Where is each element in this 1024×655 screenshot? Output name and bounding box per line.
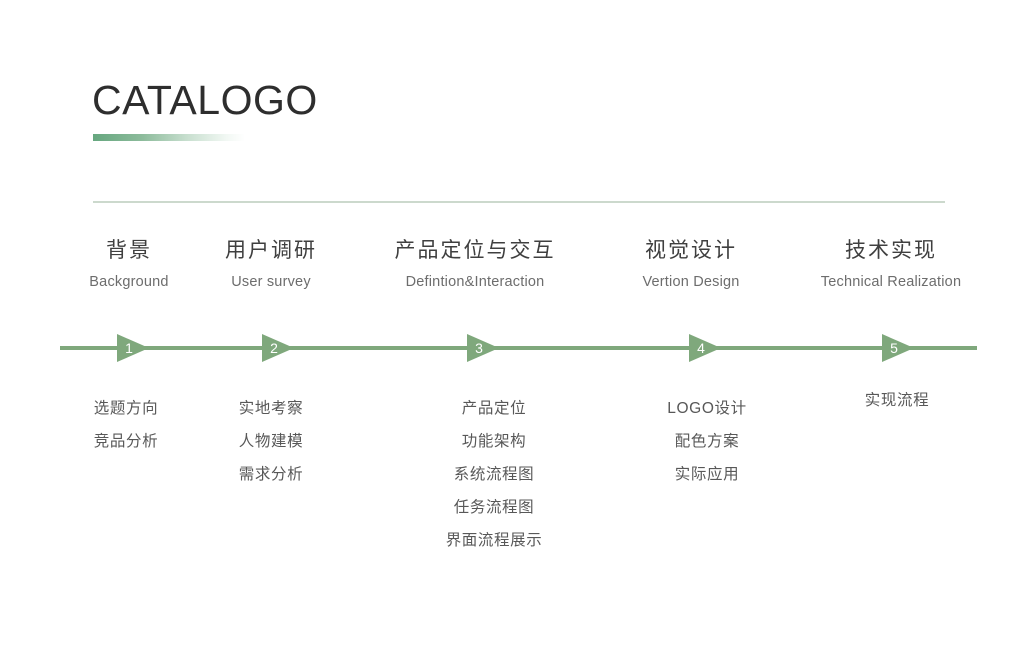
column-title-en-1: Background — [89, 272, 168, 292]
column-title-cn-5: 技术实现 — [821, 236, 961, 266]
column-title-cn-2: 用户调研 — [225, 236, 317, 266]
column-title-cn-3: 产品定位与交互 — [395, 236, 556, 266]
title-underline-accent — [93, 134, 245, 141]
column-title-en-2: User survey — [225, 272, 317, 292]
list-item: 实现流程 — [865, 384, 929, 417]
list-item: 实地考察 — [239, 392, 303, 425]
list-item: 界面流程展示 — [446, 524, 543, 557]
timeline-marker-number-1: 1 — [122, 334, 136, 363]
column-header-2: 用户调研 User survey — [225, 236, 317, 292]
list-item: 系统流程图 — [446, 458, 543, 491]
column-header-5: 技术实现 Technical Realization — [821, 236, 961, 292]
list-item: 实际应用 — [667, 458, 746, 491]
list-item: 竞品分析 — [94, 425, 158, 458]
column-items-5: 实现流程 — [865, 384, 929, 417]
column-title-en-4: Vertion Design — [642, 272, 739, 292]
column-items-3: 产品定位 功能架构 系统流程图 任务流程图 界面流程展示 — [446, 392, 543, 557]
column-title-en-5: Technical Realization — [821, 272, 961, 292]
column-header-1: 背景 Background — [89, 236, 168, 292]
column-title-cn-1: 背景 — [89, 236, 168, 266]
timeline-marker-number-2: 2 — [267, 334, 281, 363]
timeline-marker-1[interactable]: 1 — [117, 334, 149, 363]
timeline-marker-4[interactable]: 4 — [689, 334, 721, 363]
column-items-2: 实地考察 人物建模 需求分析 — [239, 392, 303, 491]
list-item: 选题方向 — [94, 392, 158, 425]
column-title-en-3: Defintion&Interaction — [395, 272, 556, 292]
page-title: CATALOGO — [92, 76, 318, 124]
list-item: 产品定位 — [446, 392, 543, 425]
column-item-lists: 选题方向 竞品分析 实地考察 人物建模 需求分析 产品定位 功能架构 系统流程图… — [0, 392, 1024, 592]
timeline-marker-number-3: 3 — [472, 334, 486, 363]
timeline-axis: 1 2 3 4 5 — [0, 330, 1024, 370]
watermark-text — [62, 24, 132, 40]
column-title-cn-4: 视觉设计 — [642, 236, 739, 266]
list-item: LOGO设计 — [667, 392, 746, 425]
column-items-4: LOGO设计 配色方案 实际应用 — [667, 392, 746, 491]
list-item: 人物建模 — [239, 425, 303, 458]
column-items-1: 选题方向 竞品分析 — [94, 392, 158, 458]
list-item: 配色方案 — [667, 425, 746, 458]
timeline-marker-5[interactable]: 5 — [882, 334, 914, 363]
timeline-marker-2[interactable]: 2 — [262, 334, 294, 363]
timeline-marker-number-4: 4 — [694, 334, 708, 363]
list-item: 需求分析 — [239, 458, 303, 491]
timeline-marker-number-5: 5 — [887, 334, 901, 363]
section-divider — [93, 201, 945, 203]
list-item: 功能架构 — [446, 425, 543, 458]
column-headers: 背景 Background 用户调研 User survey 产品定位与交互 D… — [0, 236, 1024, 306]
column-header-3: 产品定位与交互 Defintion&Interaction — [395, 236, 556, 292]
column-header-4: 视觉设计 Vertion Design — [642, 236, 739, 292]
timeline-marker-3[interactable]: 3 — [467, 334, 499, 363]
timeline-line — [60, 346, 977, 350]
list-item: 任务流程图 — [446, 491, 543, 524]
slide-canvas: CATALOGO 背景 Background 用户调研 User survey … — [0, 0, 1024, 655]
